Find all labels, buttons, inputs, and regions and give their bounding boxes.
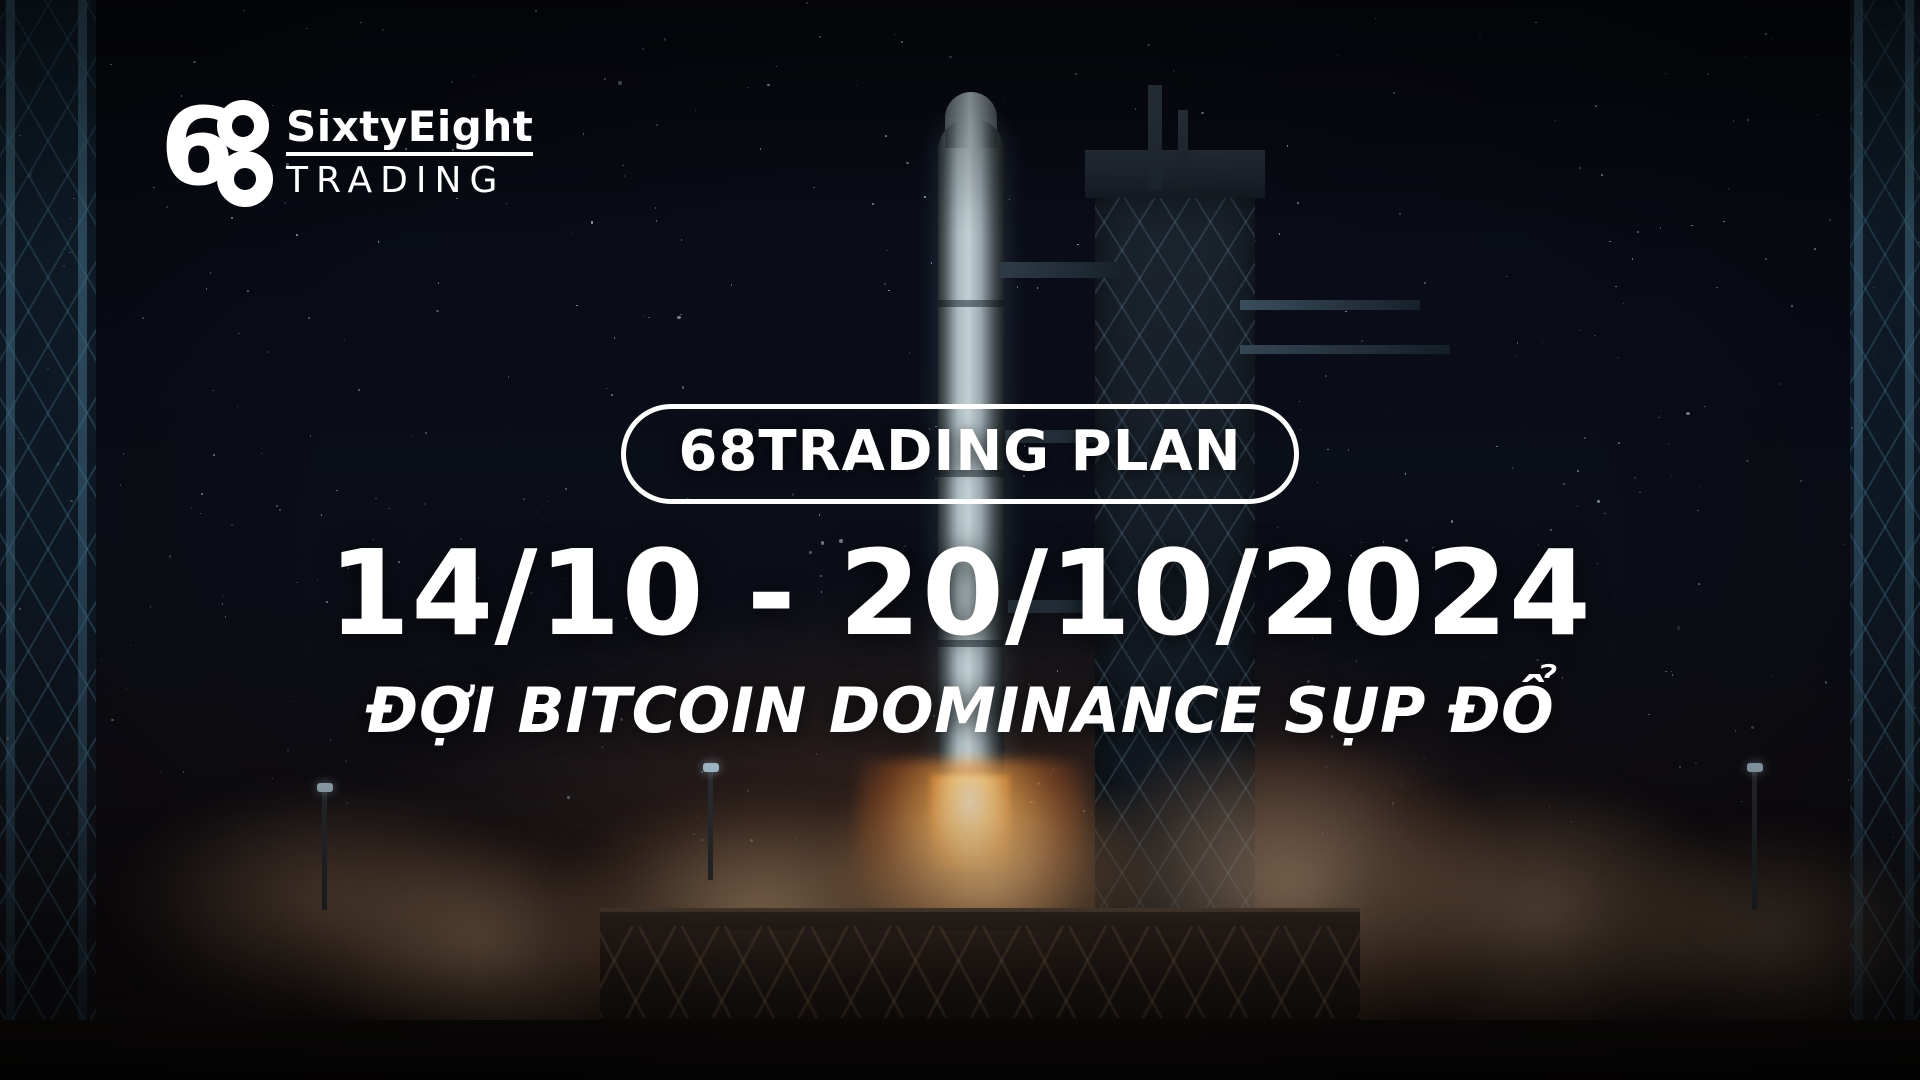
tower-crossbeam [1240, 345, 1450, 354]
logo-ring-top-icon [217, 100, 269, 152]
light-post [322, 790, 327, 910]
light-lamp [703, 763, 719, 772]
light-lamp [1747, 763, 1763, 772]
tagline: ĐỢI BITCOIN DOMINANCE SỤP ĐỔ [366, 674, 1554, 747]
logo-brand-sub: TRADING [286, 156, 533, 201]
light-post [708, 770, 713, 880]
smoke-plume [1600, 830, 1920, 1040]
light-lamp [317, 783, 333, 792]
launch-pad-truss [600, 926, 1360, 1018]
tower-arm [1000, 262, 1120, 278]
banner-content: 68TRADING PLAN 14/10 - 20/10/2024 ĐỢI BI… [0, 404, 1920, 747]
tower-crossbeam [1240, 300, 1420, 310]
logo-wordmark: SixtyEight TRADING [286, 96, 533, 201]
light-post [1752, 770, 1757, 910]
logo-brand-name: SixtyEight [286, 106, 533, 156]
tower-mast-secondary [1178, 110, 1188, 190]
date-range: 14/10 - 20/10/2024 [328, 532, 1592, 656]
plan-badge: 68TRADING PLAN [621, 404, 1298, 504]
tower-mast [1148, 85, 1162, 190]
logo-68-mark: 6 [160, 96, 268, 196]
brand-logo[interactable]: 6 SixtyEight TRADING [160, 96, 533, 201]
logo-ring-bottom-icon [217, 151, 273, 207]
banner-stage: 6 SixtyEight TRADING 68TRADING PLAN 14/1… [0, 0, 1920, 1080]
tower-cap [1085, 150, 1265, 198]
ground [0, 1020, 1920, 1080]
